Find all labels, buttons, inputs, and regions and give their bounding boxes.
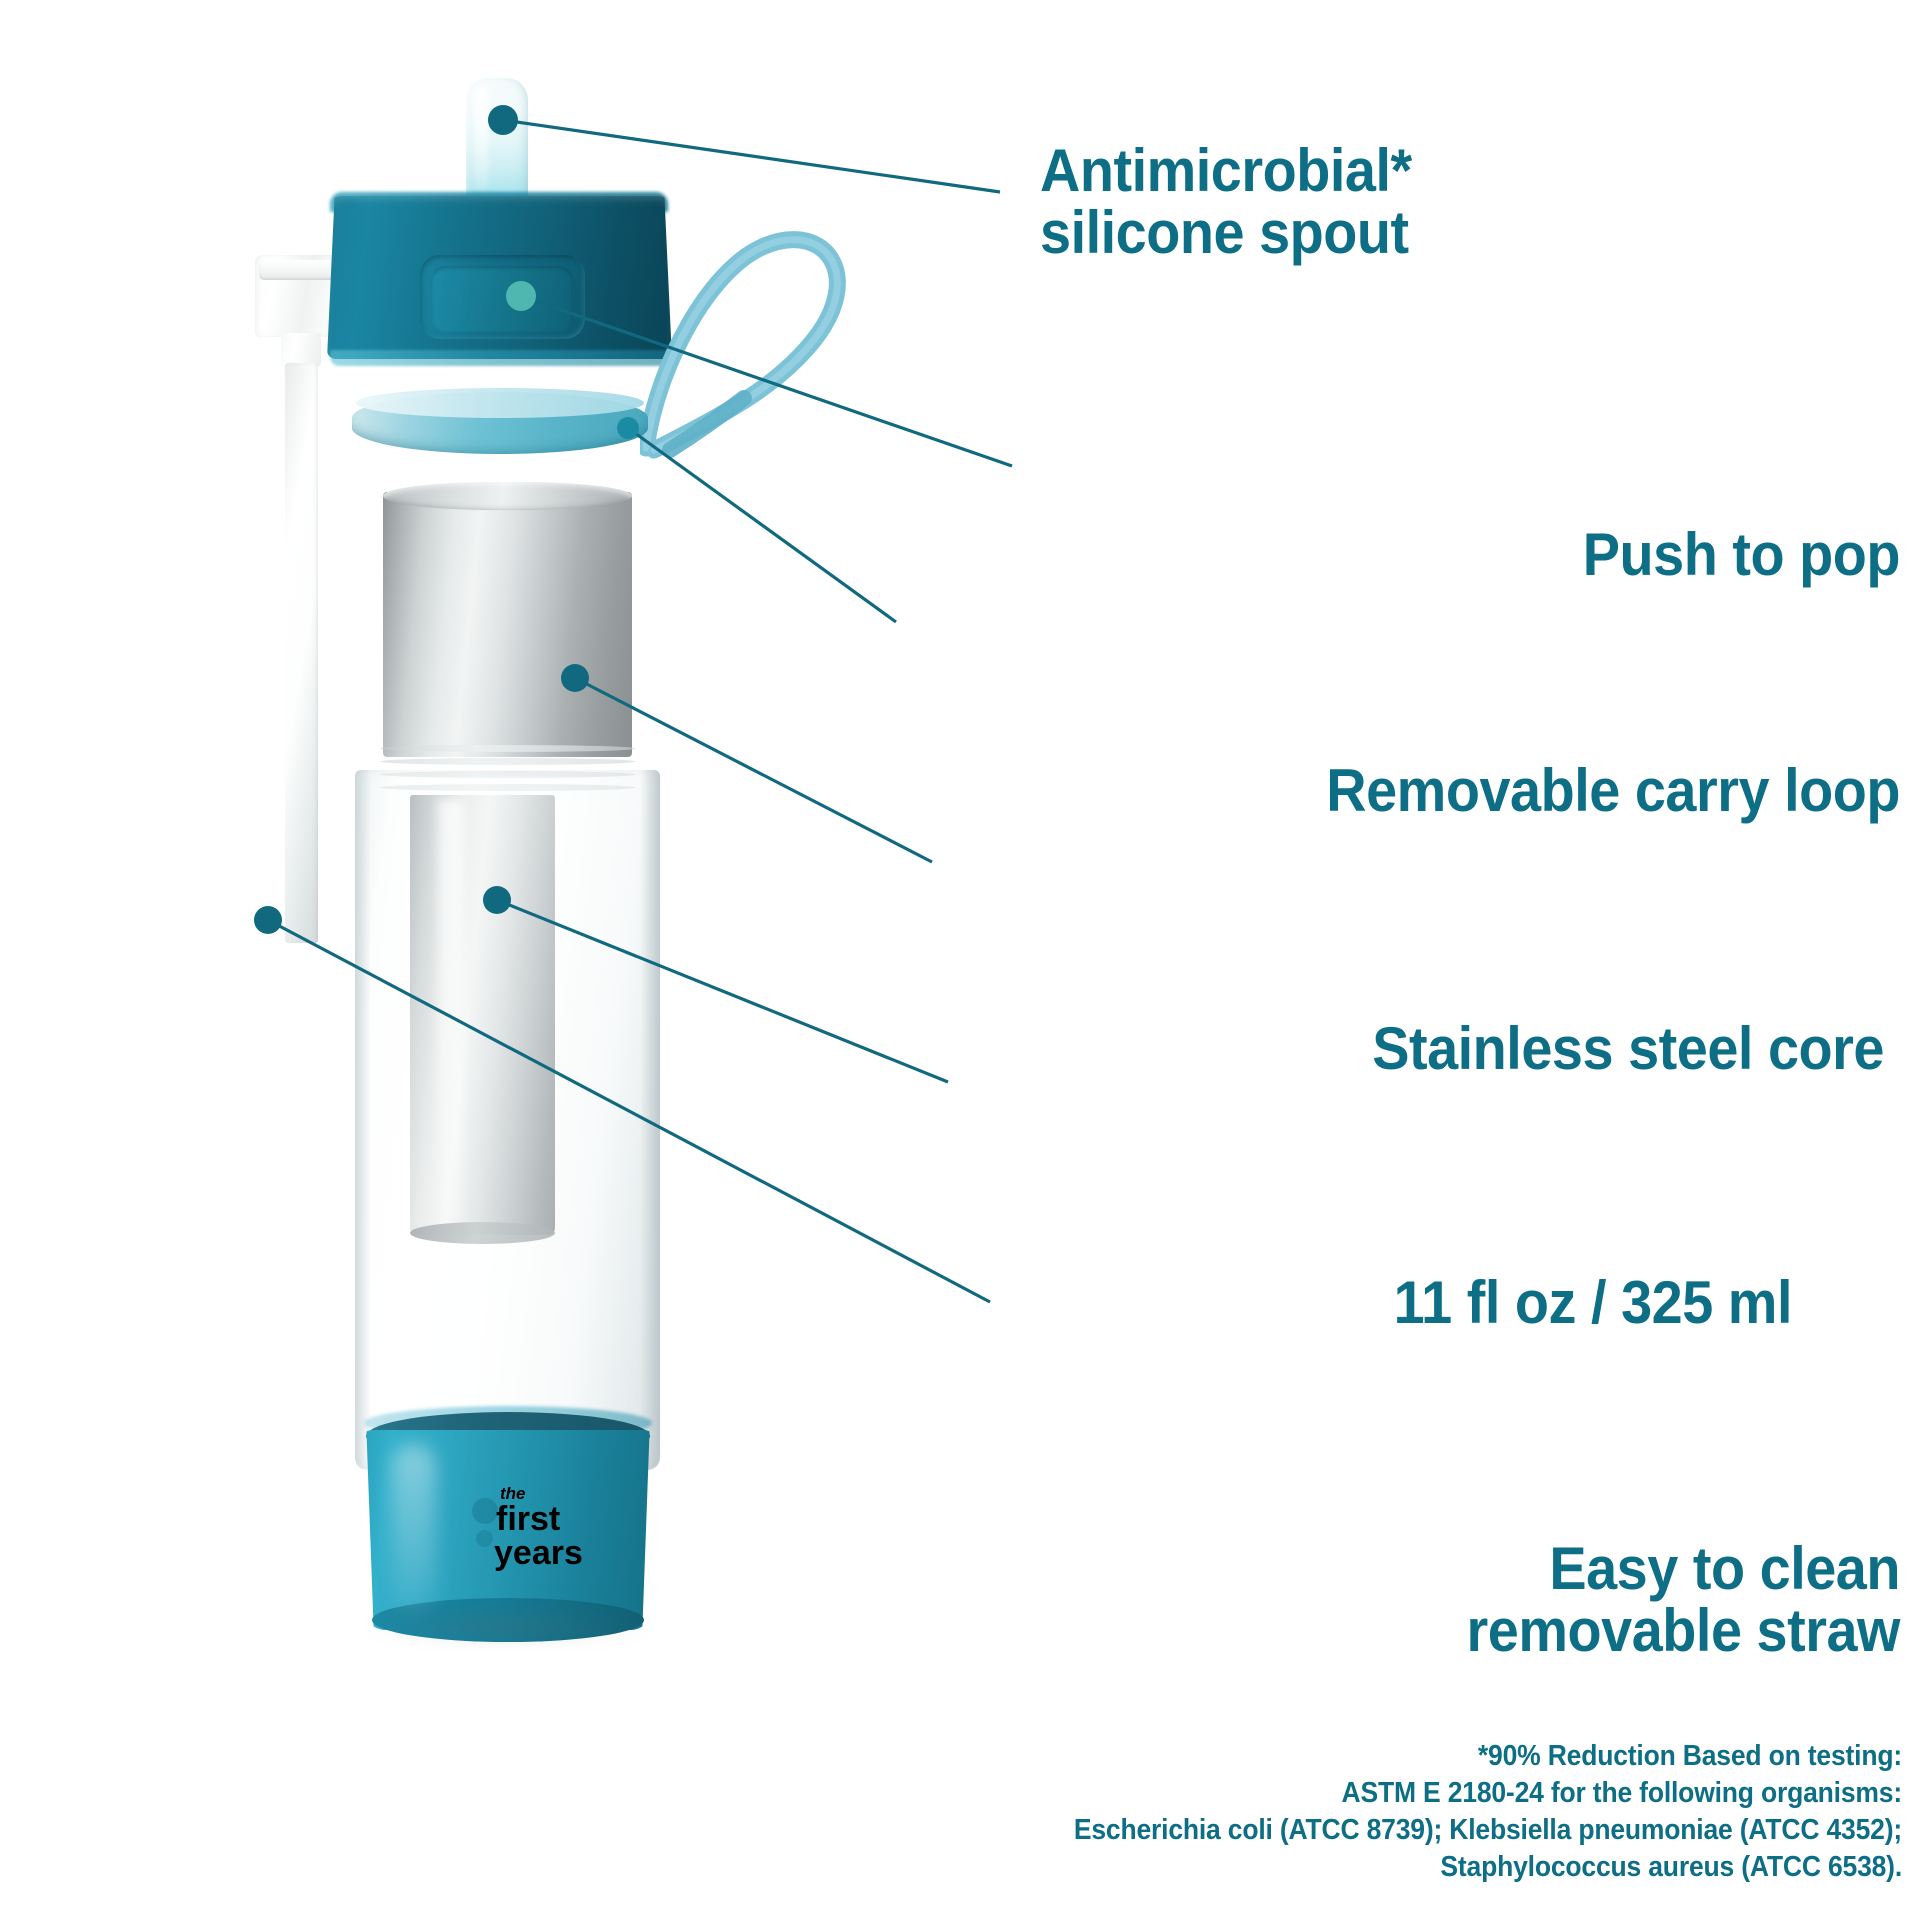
antimicrobial-testing-footnote: *90% Reduction Based on testing: ASTM E … [786, 1738, 1902, 1886]
steel-core-inside-bottle [410, 795, 555, 1235]
callout-capacity: 11 fl oz / 325 ml [1141, 1272, 1792, 1334]
callout-push-to-pop: Push to pop [1305, 524, 1900, 586]
callout-removable-carry-loop: Removable carry loop [1137, 760, 1900, 822]
contact-shadow [366, 1610, 652, 1644]
thread-ring [380, 745, 636, 752]
straw-neck [281, 333, 321, 367]
cap-bottom-rim [330, 350, 670, 366]
callout-easy-to-clean-removable-straw: Easy to clean removable straw [1082, 1538, 1900, 1663]
push-button-inner [431, 266, 573, 332]
product-illustration: the first years [0, 0, 960, 1921]
steel-core-highlight [438, 800, 464, 1230]
bottle-right-edge [640, 770, 660, 1470]
collar-top-face [356, 388, 644, 418]
straw-head-lip [259, 260, 343, 280]
infographic-canvas: the first years [0, 0, 1920, 1921]
base-highlight [392, 1444, 436, 1614]
callout-stainless-steel-core: Stainless steel core [1177, 1018, 1884, 1080]
stainless-steel-core-part [383, 492, 632, 757]
steel-core-rim [383, 482, 632, 510]
bottle-left-edge [355, 770, 371, 1470]
steel-core-bottom [410, 1222, 555, 1244]
straw-tube [285, 363, 318, 943]
logo-dot-small [476, 1530, 493, 1547]
callout-antimicrobial-silicone-spout: Antimicrobial* silicone spout [1040, 140, 1477, 265]
logo-dot-large [472, 1498, 498, 1524]
carry-loop-part [640, 212, 885, 462]
logo-text-years: years [494, 1534, 583, 1573]
spout-highlight [474, 86, 489, 191]
thread-ring [380, 758, 636, 765]
